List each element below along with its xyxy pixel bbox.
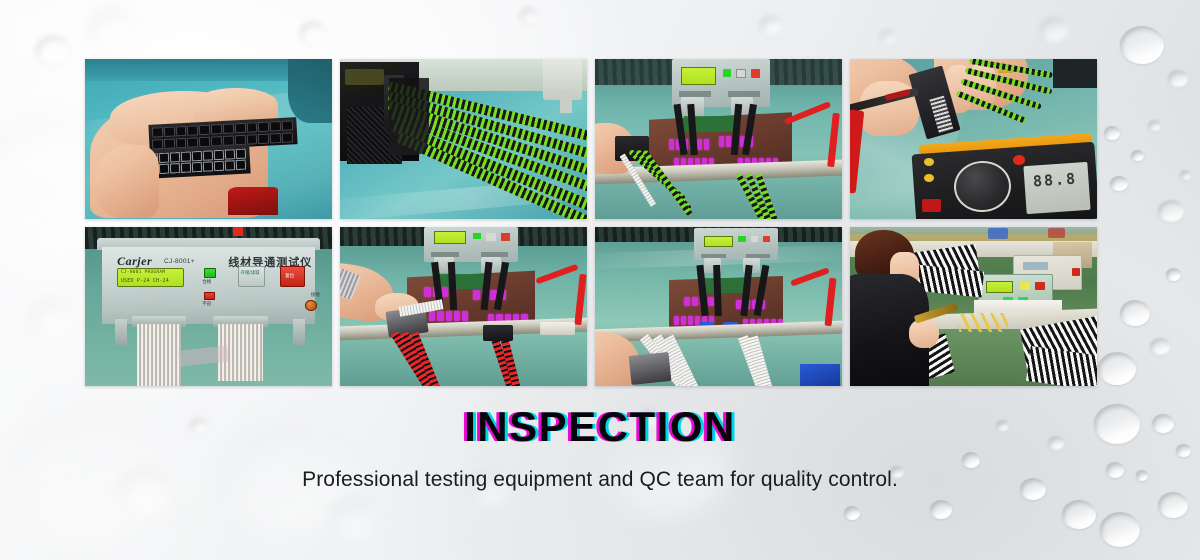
water-droplet	[1166, 268, 1181, 281]
water-droplet	[1158, 200, 1184, 222]
water-droplet-blur	[30, 300, 74, 340]
water-droplet	[300, 22, 326, 44]
photo-connector-in-hand	[85, 59, 332, 219]
inspection-photo-gallery: 88.8 Carjer CJ-8001+ 线材导通测试仪	[85, 59, 1097, 386]
gallery-photo-4[interactable]: 88.8	[850, 59, 1097, 219]
water-droplet	[1110, 176, 1128, 191]
water-droplet	[930, 500, 952, 519]
water-droplet	[520, 8, 538, 24]
carjer-button-1-label: 存储/读取	[241, 271, 263, 276]
gallery-photo-7[interactable]	[595, 227, 842, 387]
water-droplet	[880, 30, 896, 44]
carjer-lcd-line-1: CJ-8001 PROGRAM	[121, 270, 166, 275]
carjer-model-text: CJ-8001+	[164, 258, 195, 265]
gallery-photo-3[interactable]	[595, 59, 842, 219]
water-droplet-blur	[90, 10, 136, 50]
page-background: 88.8 Carjer CJ-8001+ 线材导通测试仪	[0, 0, 1200, 560]
carjer-brand-text: Carjer	[117, 254, 152, 269]
water-droplet-blur	[330, 500, 376, 540]
water-droplet	[1150, 338, 1170, 355]
water-droplet	[1168, 70, 1188, 87]
water-droplet	[1120, 300, 1150, 326]
carjer-button-2-label: 复位	[285, 273, 294, 279]
gallery-photo-2[interactable]	[340, 59, 587, 219]
photo-qc-operator-workbench	[850, 227, 1097, 387]
photo-carjer-tester-panel: Carjer CJ-8001+ 线材导通测试仪 CJ-8001 PROGRAM …	[85, 227, 332, 387]
water-droplet	[1148, 120, 1161, 131]
water-droplet	[1131, 150, 1144, 161]
photo-continuity-test-rig	[595, 59, 842, 219]
photo-green-sleeved-cables	[340, 59, 587, 219]
gallery-photo-8[interactable]	[850, 227, 1097, 387]
page-subtitle: Professional testing equipment and QC te…	[0, 468, 1200, 492]
water-droplet	[1158, 492, 1188, 518]
photo-ribbon-harness-test	[595, 227, 842, 387]
water-droplet	[1100, 512, 1140, 547]
caption-block: INSPECTION Professional testing equipmen…	[0, 404, 1200, 492]
gallery-photo-1[interactable]	[85, 59, 332, 219]
gallery-photo-6[interactable]	[340, 227, 587, 387]
photo-multimeter-probe: 88.8	[850, 59, 1097, 219]
water-droplet	[1098, 352, 1136, 385]
gallery-photo-5[interactable]: Carjer CJ-8001+ 线材导通测试仪 CJ-8001 PROGRAM …	[85, 227, 332, 387]
water-droplet	[1104, 126, 1120, 140]
water-droplet	[36, 36, 70, 66]
carjer-led-label-1: 合格	[202, 279, 211, 285]
page-title: INSPECTION	[464, 404, 736, 450]
water-droplet	[760, 16, 782, 35]
water-droplet	[1180, 170, 1191, 180]
carjer-jack-label: 接地	[311, 292, 320, 298]
carjer-led-label-2: 不良	[202, 301, 211, 307]
photo-harness-plug-in-red	[340, 227, 587, 387]
water-droplet-blur	[0, 0, 100, 64]
water-droplet	[1120, 26, 1164, 64]
water-droplet	[1062, 500, 1096, 529]
carjer-lcd-line-2: USED P-24 CH-24	[121, 278, 169, 284]
water-droplet	[1040, 18, 1068, 42]
water-droplet	[844, 506, 860, 520]
